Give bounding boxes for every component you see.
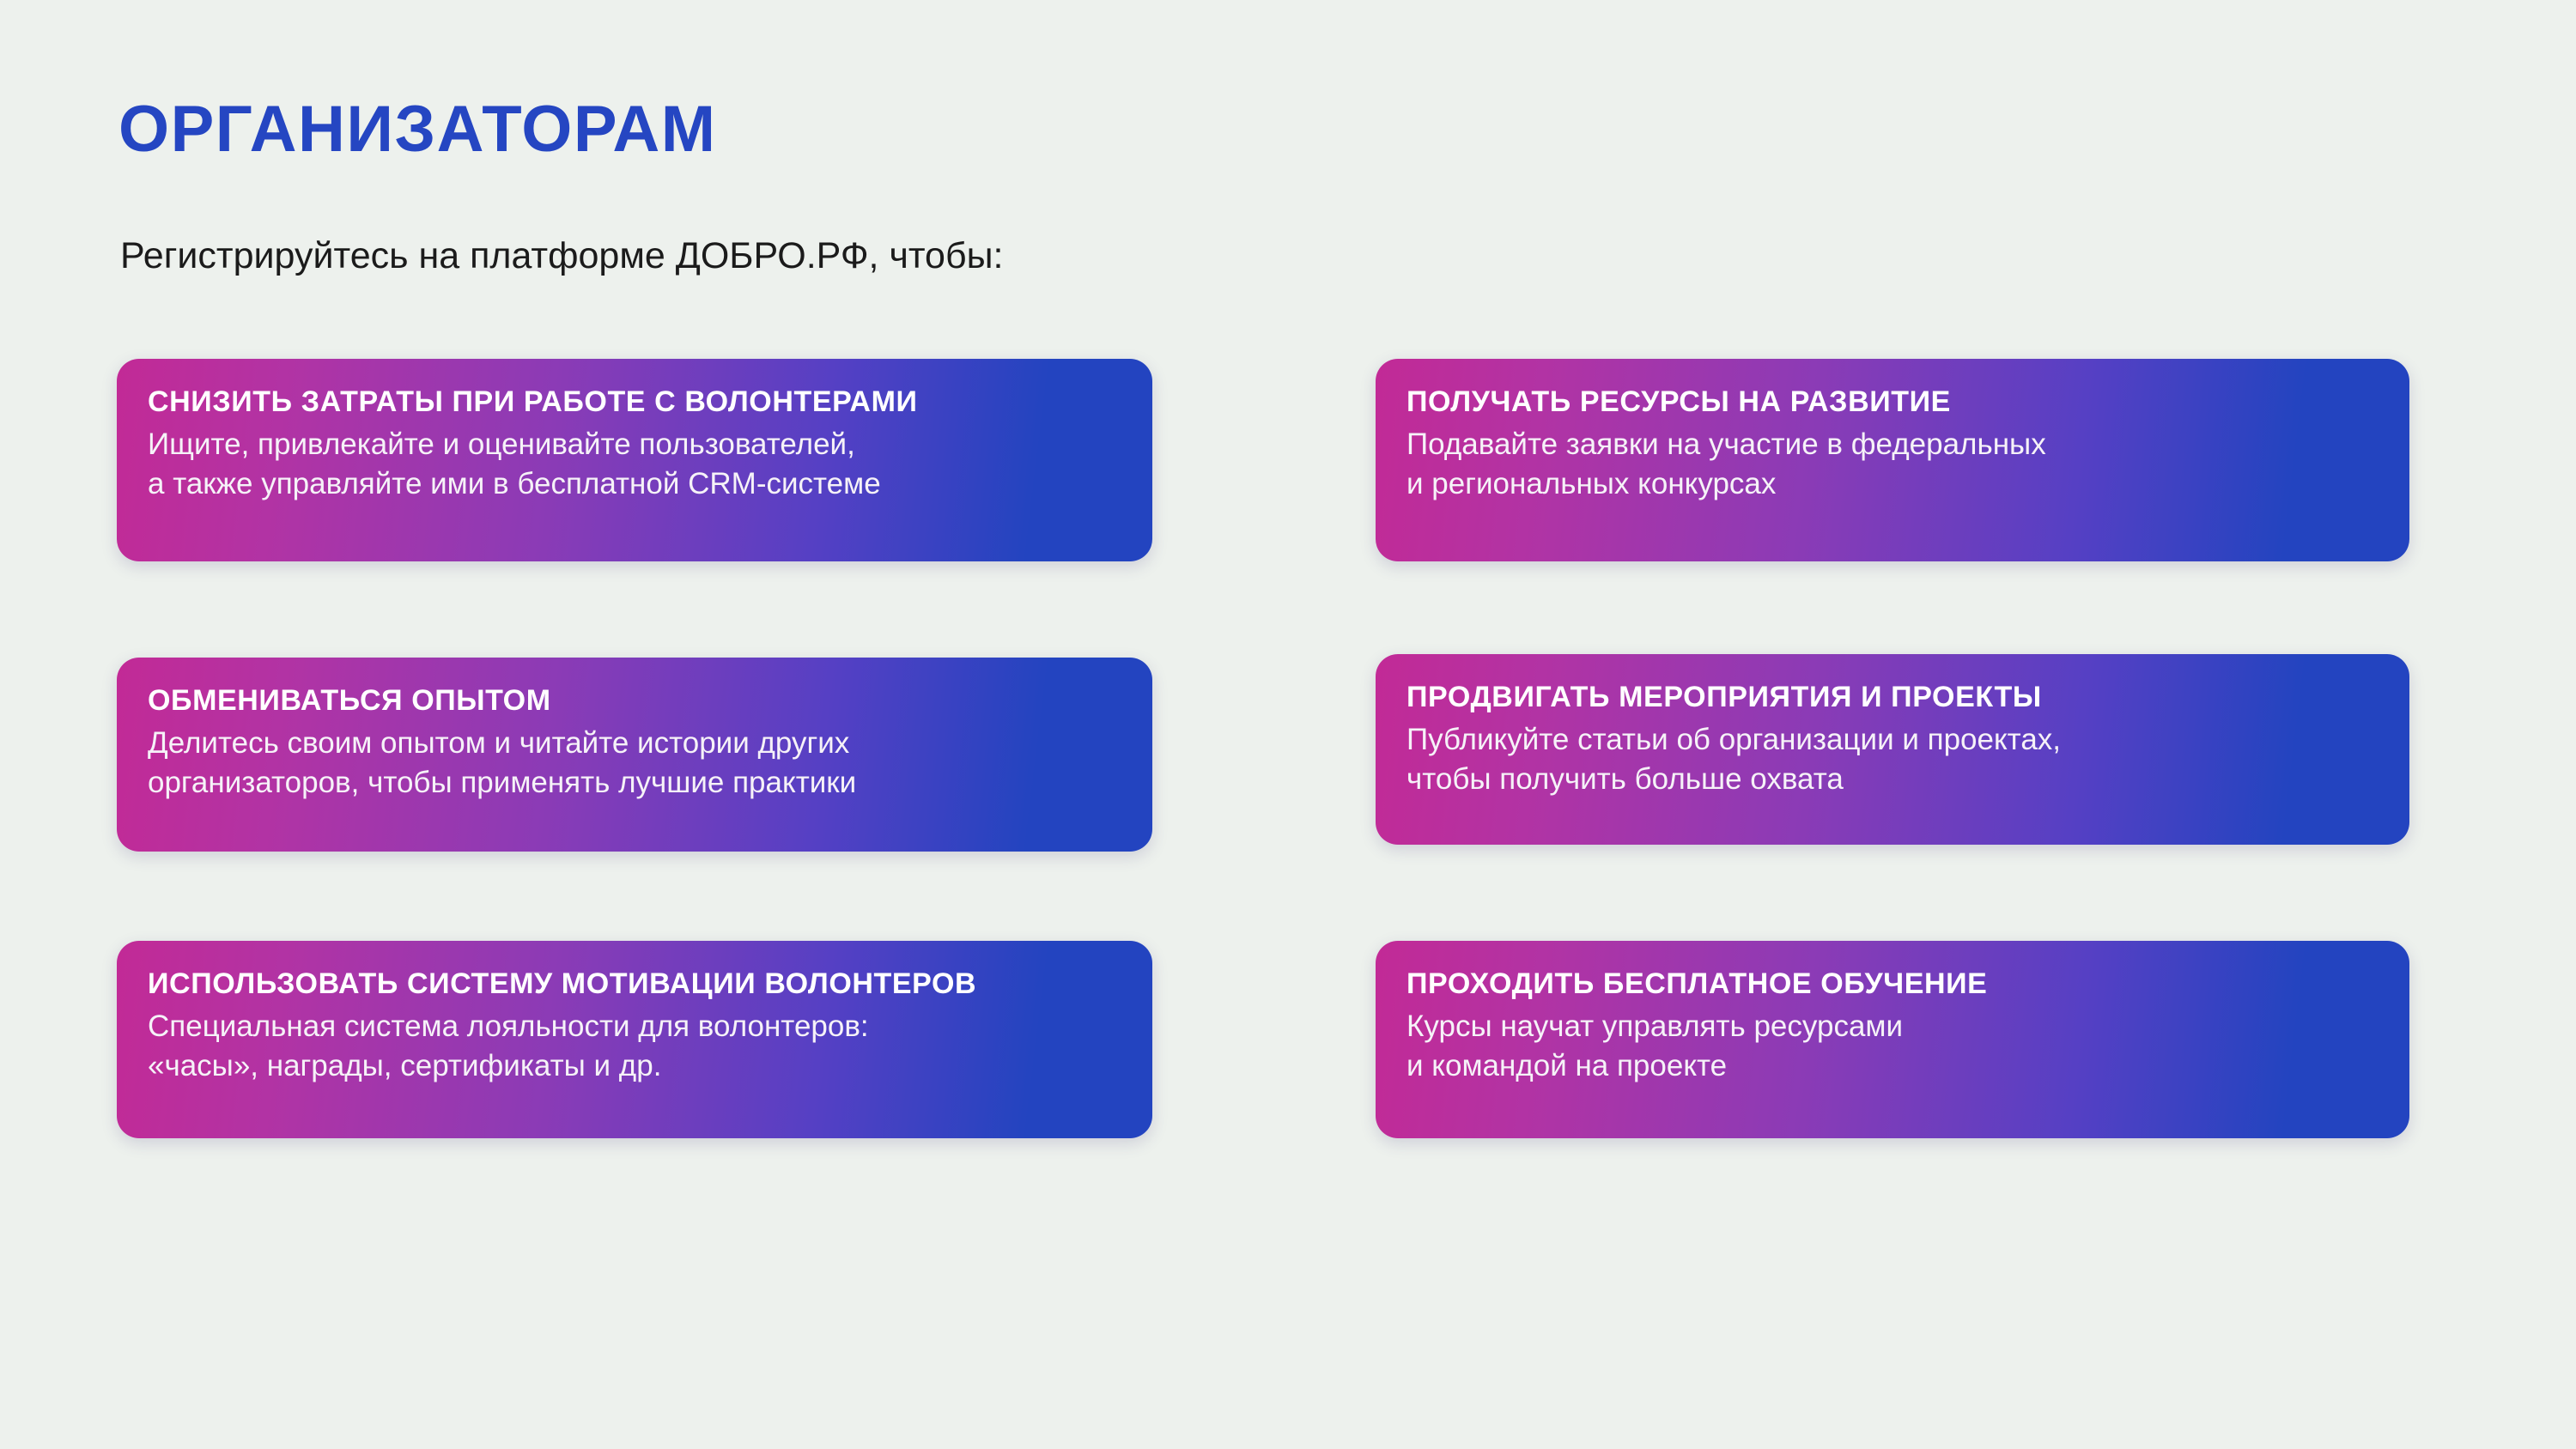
card-content: ПРОХОДИТЬ БЕСПЛАТНОЕ ОБУЧЕНИЕ Курсы науч… [1406,967,2384,1086]
card-title: ПОЛУЧАТЬ РЕСУРСЫ НА РАЗВИТИЕ [1406,385,2384,420]
card-description-line-2: а также управляйте ими в бесплатной CRM-… [148,464,1127,504]
card-title: ПРОХОДИТЬ БЕСПЛАТНОЕ ОБУЧЕНИЕ [1406,967,2384,1002]
benefit-card-ispolzovat-sistemu-motivacii[interactable]: ИСПОЛЬЗОВАТЬ СИСТЕМУ МОТИВАЦИИ ВОЛОНТЕРО… [117,941,1152,1138]
benefit-card-prodvigat-meropriyatiya[interactable]: ПРОДВИГАТЬ МЕРОПРИЯТИЯ И ПРОЕКТЫ Публику… [1376,654,2409,845]
card-title: ОБМЕНИВАТЬСЯ ОПЫТОМ [148,683,1127,718]
benefit-card-poluchat-resursy[interactable]: ПОЛУЧАТЬ РЕСУРСЫ НА РАЗВИТИЕ Подавайте з… [1376,359,2409,561]
slide-root: ОРГАНИЗАТОРАМ Регистрируйтесь на платфор… [0,0,2576,1449]
card-description-line-2: и региональных конкурсах [1406,464,2384,504]
card-description-line-1: Публикуйте статьи об организации и проек… [1406,720,2384,760]
card-description-line-1: Подавайте заявки на участие в федеральны… [1406,425,2384,464]
card-content: ИСПОЛЬЗОВАТЬ СИСТЕМУ МОТИВАЦИИ ВОЛОНТЕРО… [148,967,1127,1086]
card-title: ИСПОЛЬЗОВАТЬ СИСТЕМУ МОТИВАЦИИ ВОЛОНТЕРО… [148,967,1127,1002]
card-description-line-2: «часы», награды, сертификаты и др. [148,1046,1127,1086]
card-title: ПРОДВИГАТЬ МЕРОПРИЯТИЯ И ПРОЕКТЫ [1406,680,2384,715]
card-content: ОБМЕНИВАТЬСЯ ОПЫТОМ Делитесь своим опыто… [148,683,1127,803]
card-title: СНИЗИТЬ ЗАТРАТЫ ПРИ РАБОТЕ С ВОЛОНТЕРАМИ [148,385,1127,420]
benefit-card-obmenivatsya-opytom[interactable]: ОБМЕНИВАТЬСЯ ОПЫТОМ Делитесь своим опыто… [117,658,1152,852]
card-description-line-1: Ищите, привлекайте и оценивайте пользова… [148,425,1127,464]
card-description-line-2: организаторов, чтобы применять лучшие пр… [148,763,1127,803]
card-description-line-1: Курсы научат управлять ресурсами [1406,1007,2384,1046]
benefit-card-prohodit-besplatnoe-obuchenie[interactable]: ПРОХОДИТЬ БЕСПЛАТНОЕ ОБУЧЕНИЕ Курсы науч… [1376,941,2409,1138]
card-content: ПРОДВИГАТЬ МЕРОПРИЯТИЯ И ПРОЕКТЫ Публику… [1406,680,2384,799]
card-content: СНИЗИТЬ ЗАТРАТЫ ПРИ РАБОТЕ С ВОЛОНТЕРАМИ… [148,385,1127,504]
benefit-card-snizit-zatraty[interactable]: СНИЗИТЬ ЗАТРАТЫ ПРИ РАБОТЕ С ВОЛОНТЕРАМИ… [117,359,1152,561]
benefit-cards-grid: СНИЗИТЬ ЗАТРАТЫ ПРИ РАБОТЕ С ВОЛОНТЕРАМИ… [0,0,2576,1449]
card-content: ПОЛУЧАТЬ РЕСУРСЫ НА РАЗВИТИЕ Подавайте з… [1406,385,2384,504]
card-description-line-2: чтобы получить больше охвата [1406,760,2384,799]
card-description-line-1: Делитесь своим опытом и читайте истории … [148,724,1127,763]
card-description-line-1: Специальная система лояльности для волон… [148,1007,1127,1046]
card-description-line-2: и командой на проекте [1406,1046,2384,1086]
